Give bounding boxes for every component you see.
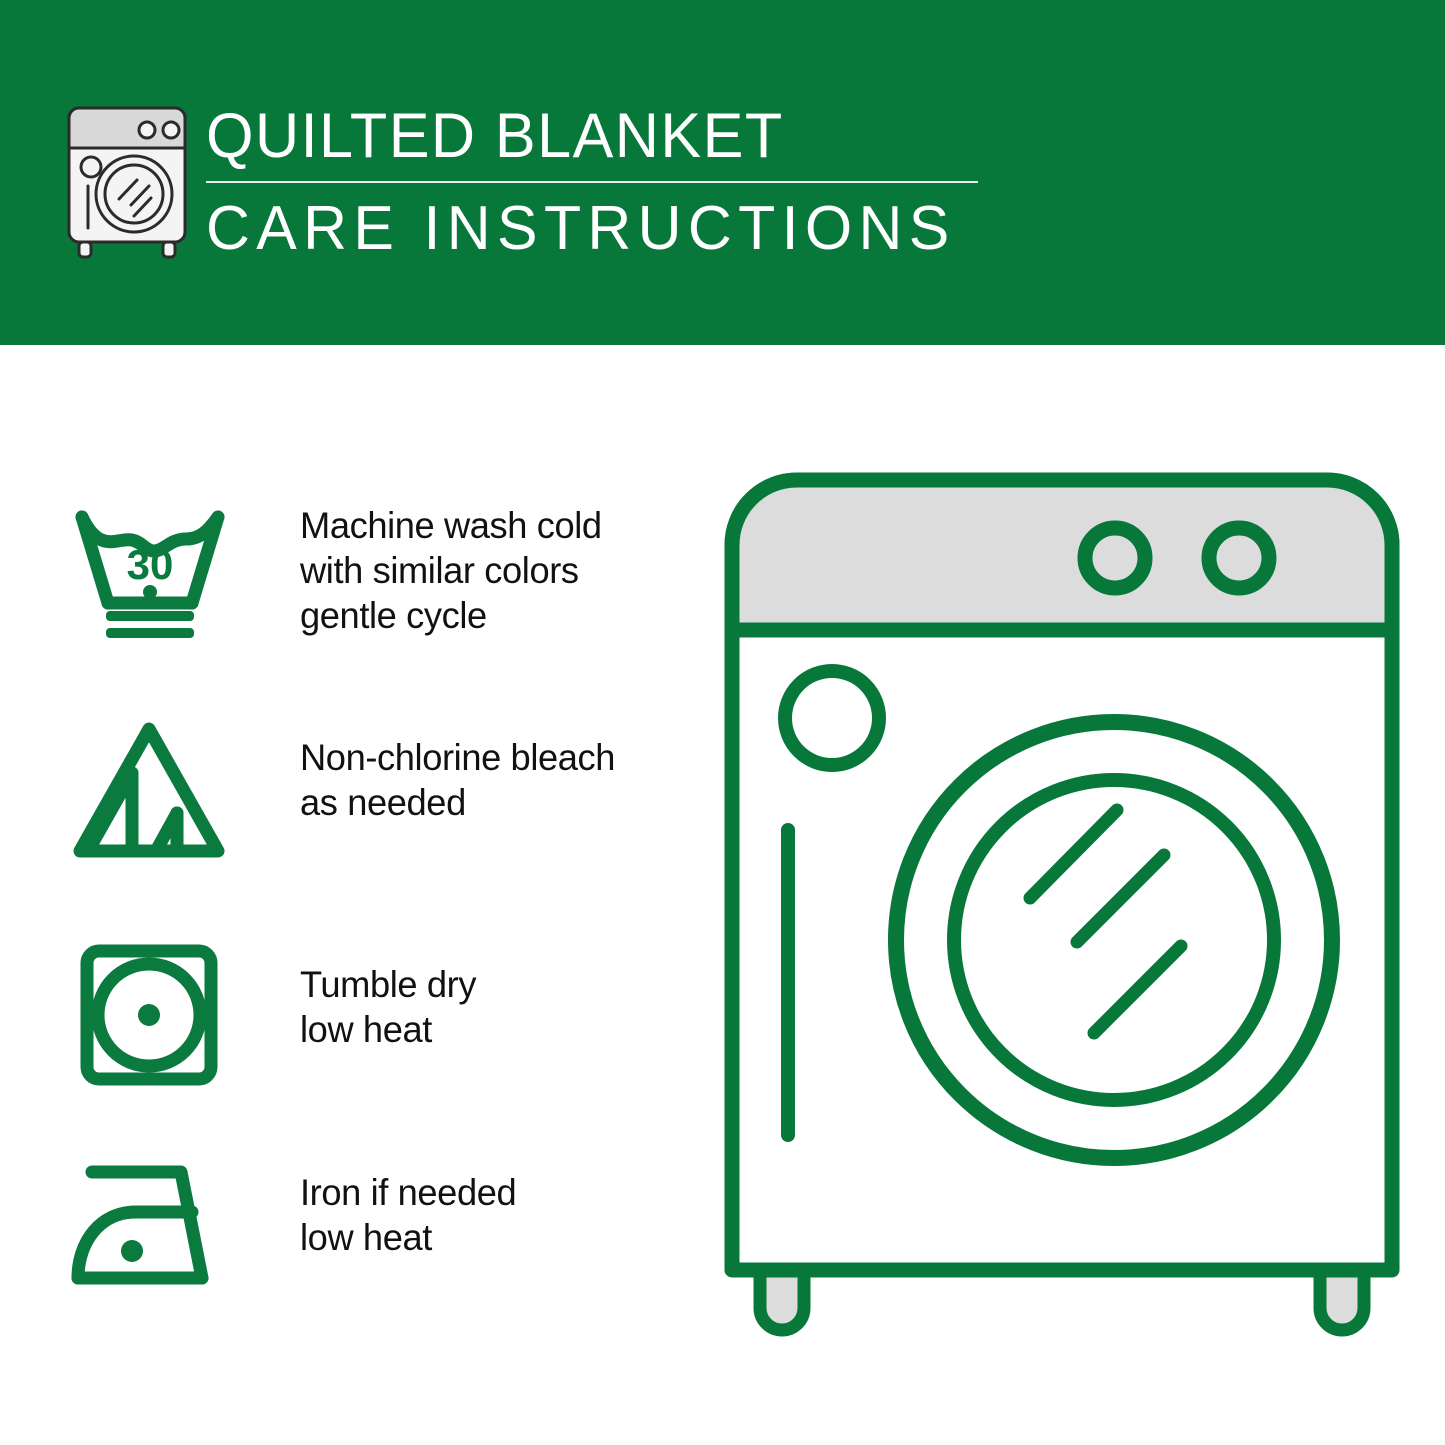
leg-left	[760, 1270, 804, 1330]
washing-machine-icon	[63, 102, 191, 260]
header-title-block: QUILTED BLANKET CARE INSTRUCTIONS	[206, 100, 986, 264]
leg-right	[1320, 1270, 1364, 1330]
front-load-washing-machine-illustration	[722, 470, 1402, 1370]
page-title: QUILTED BLANKET	[206, 100, 963, 172]
care-item-label: Tumble dry low heat	[300, 940, 476, 1052]
care-instructions-page: QUILTED BLANKET CARE INSTRUCTIONS	[0, 0, 1445, 1445]
wash-tub-30-icon: 30	[70, 495, 230, 645]
care-item-tumble-dry: Tumble dry low heat	[70, 940, 690, 1090]
care-item-label: Non-chlorine bleach as needed	[300, 717, 615, 825]
care-item-non-chlorine-bleach: Non-chlorine bleach as needed	[70, 717, 690, 867]
page-subtitle: CARE INSTRUCTIONS	[206, 194, 970, 264]
iron-icon	[70, 1150, 230, 1300]
care-instruction-list: 30 Machine wash cold with similar colors…	[0, 345, 700, 1445]
bleach-triangle-icon	[70, 717, 230, 867]
tumble-dry-icon	[70, 940, 230, 1090]
care-item-label: Machine wash cold with similar colors ge…	[300, 495, 602, 638]
care-item-label: Iron if needed low heat	[300, 1150, 516, 1260]
page-header: QUILTED BLANKET CARE INSTRUCTIONS	[0, 0, 1445, 345]
care-item-iron: Iron if needed low heat	[70, 1150, 690, 1300]
title-divider	[206, 181, 978, 183]
svg-text:30: 30	[127, 541, 174, 588]
care-item-machine-wash: 30 Machine wash cold with similar colors…	[70, 495, 690, 645]
